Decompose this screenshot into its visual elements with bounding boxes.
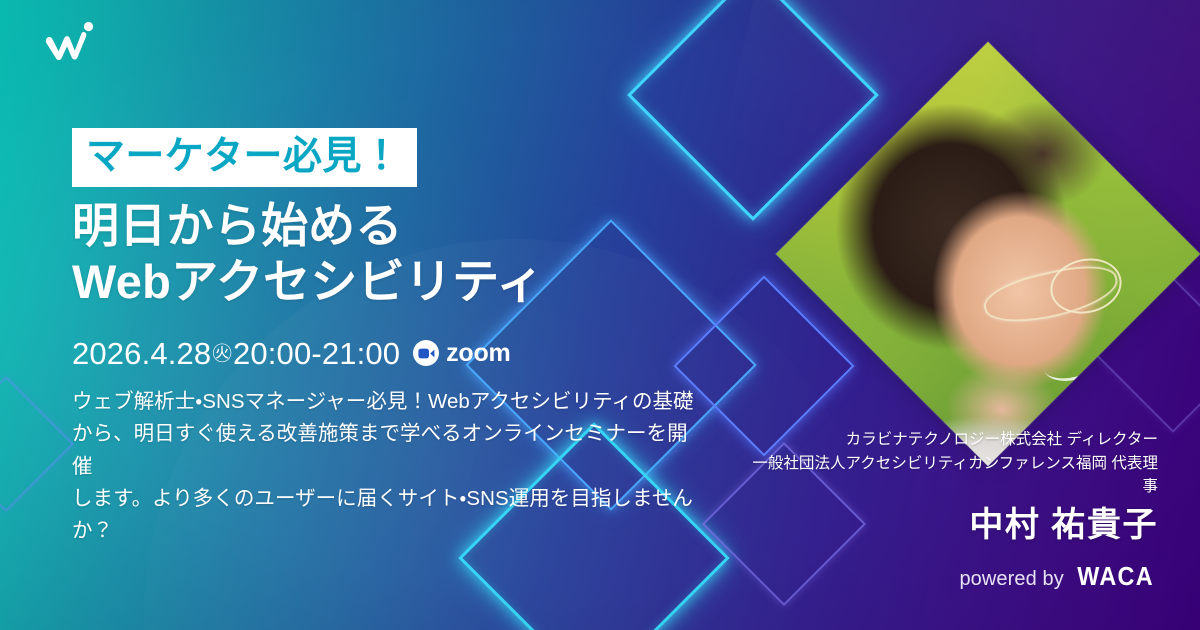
zoom-wordmark: zoom xyxy=(446,341,510,366)
zoom-camera-icon xyxy=(413,340,439,366)
title-line-2: Webアクセシビリティ xyxy=(72,254,732,310)
description-line-1: ウェブ解析士・SNSマネージャー必見！Webアクセシビリティの基礎 xyxy=(72,386,697,418)
speaker-affiliation-line-1: カラビナテクノロジー株式会社 ディレクター xyxy=(738,428,1158,452)
kicker-badge: マーケター必見！ xyxy=(72,128,417,187)
powered-by-brand: WACA xyxy=(1077,561,1154,592)
powered-by: powered by WACA xyxy=(959,561,1158,592)
webinar-banner: マーケター必見！ 明日から始める Webアクセシビリティ 2026.4.28㊋2… xyxy=(0,0,1200,630)
title-line-1: 明日から始める xyxy=(72,198,732,254)
event-datetime: 2026.4.28㊋20:00-21:00 xyxy=(72,338,400,369)
event-datetime-row: 2026.4.28㊋20:00-21:00 zoom xyxy=(72,338,732,369)
event-description: ウェブ解析士・SNSマネージャー必見！Webアクセシビリティの基礎 から、明日す… xyxy=(72,386,697,548)
powered-by-label: powered by xyxy=(959,568,1063,591)
description-line-3: します。より多くのユーザーに届くサイト・SNS運用を目指しませんか？ xyxy=(72,483,697,548)
zoom-platform-badge: zoom xyxy=(413,340,510,366)
speaker-info: カラビナテクノロジー株式会社 ディレクター 一般社団法人アクセシビリティカンファ… xyxy=(738,428,1158,544)
event-time-range: 20:00-21:00 xyxy=(233,336,400,371)
description-line-2: から、明日すぐ使える改善施策まで学べるオンラインセミナーを開催 xyxy=(72,418,697,483)
waca-w-mark-icon xyxy=(38,18,100,74)
page-title: 明日から始める Webアクセシビリティ xyxy=(72,198,732,310)
speaker-affiliation-line-2: 一般社団法人アクセシビリティカンファレンス福岡 代表理事 xyxy=(738,452,1158,499)
event-day-of-week: ㊋ xyxy=(212,345,232,365)
speaker-affiliation: カラビナテクノロジー株式会社 ディレクター 一般社団法人アクセシビリティカンファ… xyxy=(738,428,1158,499)
event-date: 2026.4.28 xyxy=(72,336,211,371)
speaker-name: 中村 祐貴子 xyxy=(738,507,1158,544)
hero-content: マーケター必見！ 明日から始める Webアクセシビリティ 2026.4.28㊋2… xyxy=(72,128,732,548)
